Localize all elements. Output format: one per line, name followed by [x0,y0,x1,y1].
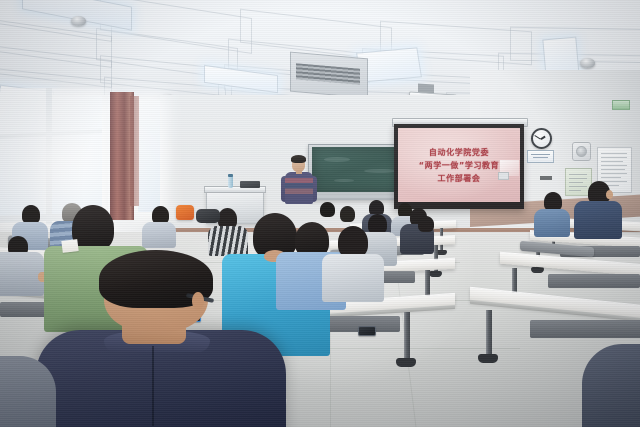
desk-under-shelf [530,320,640,338]
presenter-torso [285,172,313,204]
desk-foot [396,358,416,367]
slide-line-2: “两学一做”学习教育 [419,162,500,170]
curtain-fold [130,96,139,206]
desk-foot [429,271,442,277]
desk-leg [404,312,410,362]
desk-foot [531,267,544,273]
attendee-head [320,202,335,217]
attendee-torso [142,222,176,248]
attendee-green-head [72,205,114,251]
exit-sign [612,100,630,110]
clock-minute-hand [534,135,541,140]
attendee-ear [192,292,204,310]
speaker-cone [576,146,587,157]
smartphone [358,326,376,336]
paper-sheet [61,239,78,253]
attendee-torso [534,209,570,237]
attendee-head [418,216,434,232]
desk-leg [486,310,492,358]
wall-placard [527,150,554,163]
black-bag [196,209,220,223]
slide-line-1: 自动化学院党委 [429,149,489,157]
wall-cable-plate [540,176,552,180]
presenter-hair [291,155,306,163]
attendee-head [368,214,387,234]
classroom-photograph: 自动化学院党委 “两学一做”学习教育 工作部署会 [0,0,640,427]
orange-backpack [176,205,194,220]
laptop [240,181,260,188]
attendee-torso [322,254,384,302]
attendee-head [340,206,355,222]
wall-clock-icon [531,128,552,149]
shirt-seam [152,346,154,426]
water-bottle [228,176,233,188]
desk-foot [478,354,498,363]
slide-line-3: 工作部署会 [438,175,481,183]
desk-under-shelf [548,274,640,288]
security-camera-icon [580,58,595,68]
security-camera-icon [71,16,86,26]
attendee-torso [208,226,248,256]
wall-outlet [498,172,509,180]
bottle-cap [228,174,233,177]
attendee-ear [606,190,613,199]
attendee-torso [574,201,622,239]
